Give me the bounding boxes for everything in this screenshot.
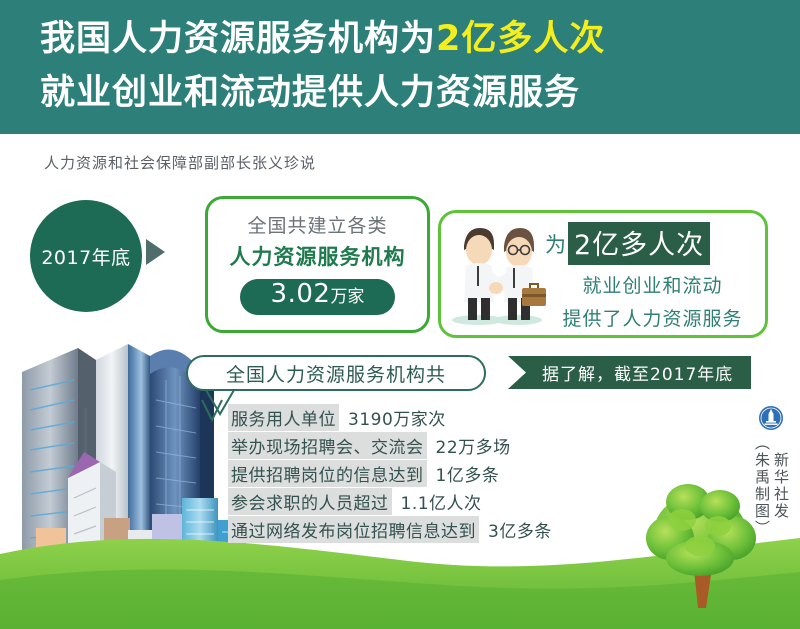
stat-value: 1亿多条 — [436, 461, 500, 486]
subtitle-source: 人力资源和社会保障部副部长张义珍说 — [44, 152, 316, 173]
banner-asof: 据了解，截至2017年底 — [508, 356, 751, 389]
stat-label: 通过网络发布岗位招聘信息达到 — [228, 516, 479, 543]
title-highlight: 2亿多人次 — [436, 19, 605, 59]
stat-value: 22万多场 — [436, 433, 511, 458]
card-institutions-number: 3.02 — [271, 279, 331, 309]
banner-asof-label: 据了解，截至2017年底 — [542, 360, 733, 385]
triangle-right-icon — [146, 239, 165, 265]
card-people-served-highlight: 2亿多人次 — [568, 222, 710, 265]
card-institutions-unit: 万家 — [330, 282, 364, 307]
stat-value: 3亿多条 — [488, 517, 552, 542]
credit-columns: 新华社发 （朱禹制图） — [748, 435, 794, 537]
stat-value: 3190万家次 — [348, 405, 446, 430]
title-line-1: 我国人力资源服务机构为2亿多人次 — [40, 12, 770, 66]
stats-list: 服务用人单位 3190万家次 举办现场招聘会、交流会 22万多场 提供招聘岗位的… — [228, 404, 648, 544]
card-people-served-text: 为 2亿多人次 就业创业和流动 提供了人力资源服务 — [545, 222, 760, 331]
card-institutions: 全国共建立各类 人力资源服务机构 3.02 万家 — [205, 196, 430, 333]
card-people-served-prefix: 为 — [545, 229, 566, 259]
stat-label: 举办现场招聘会、交流会 — [228, 432, 427, 459]
stat-label: 服务用人单位 — [228, 404, 339, 431]
stats-bracket-icon — [200, 398, 224, 426]
stat-value: 1.1亿人次 — [401, 489, 482, 514]
xinhua-logo-icon — [758, 405, 784, 431]
credit-block: 新华社发 （朱禹制图） — [748, 405, 794, 537]
date-badge-label: 2017年底 — [41, 243, 130, 270]
stat-label: 提供招聘岗位的信息达到 — [228, 460, 427, 487]
card-people-served-line3: 提供了人力资源服务 — [545, 304, 760, 331]
infographic-page: 我国人力资源服务机构为2亿多人次 就业创业和流动提供人力资源服务 人力资源和社会… — [0, 0, 800, 629]
title-line-2: 就业创业和流动提供人力资源服务 — [40, 66, 770, 120]
handshake-people-icon — [444, 216, 548, 328]
date-badge: 2017年底 — [30, 200, 142, 312]
title-line-1-text: 我国人力资源服务机构为 — [40, 19, 436, 59]
stat-label: 参会求职的人员超过 — [228, 488, 392, 515]
card-institutions-line1: 全国共建立各类 — [208, 211, 427, 238]
header-banner: 我国人力资源服务机构为2亿多人次 就业创业和流动提供人力资源服务 — [0, 0, 800, 134]
card-institutions-value-pill: 3.02 万家 — [240, 279, 395, 315]
list-item: 通过网络发布岗位招聘信息达到 3亿多条 — [228, 516, 648, 542]
header-title-block: 我国人力资源服务机构为2亿多人次 就业创业和流动提供人力资源服务 — [40, 12, 770, 120]
card-institutions-line2: 人力资源服务机构 — [208, 241, 427, 271]
stats-bubble-label: 全国人力资源服务机构共 — [186, 355, 486, 391]
list-item: 举办现场招聘会、交流会 22万多场 — [228, 432, 648, 458]
list-item: 服务用人单位 3190万家次 — [228, 404, 648, 430]
list-item: 参会求职的人员超过 1.1亿人次 — [228, 488, 648, 514]
list-item: 提供招聘岗位的信息达到 1亿多条 — [228, 460, 648, 486]
card-people-served-row1: 为 2亿多人次 — [545, 222, 760, 265]
credit-agency: 新华社发 — [772, 435, 789, 537]
card-people-served-line2: 就业创业和流动 — [545, 271, 760, 298]
credit-author: （朱禹制图） — [753, 435, 770, 537]
stats-bubble-text: 全国人力资源服务机构共 — [226, 360, 446, 387]
